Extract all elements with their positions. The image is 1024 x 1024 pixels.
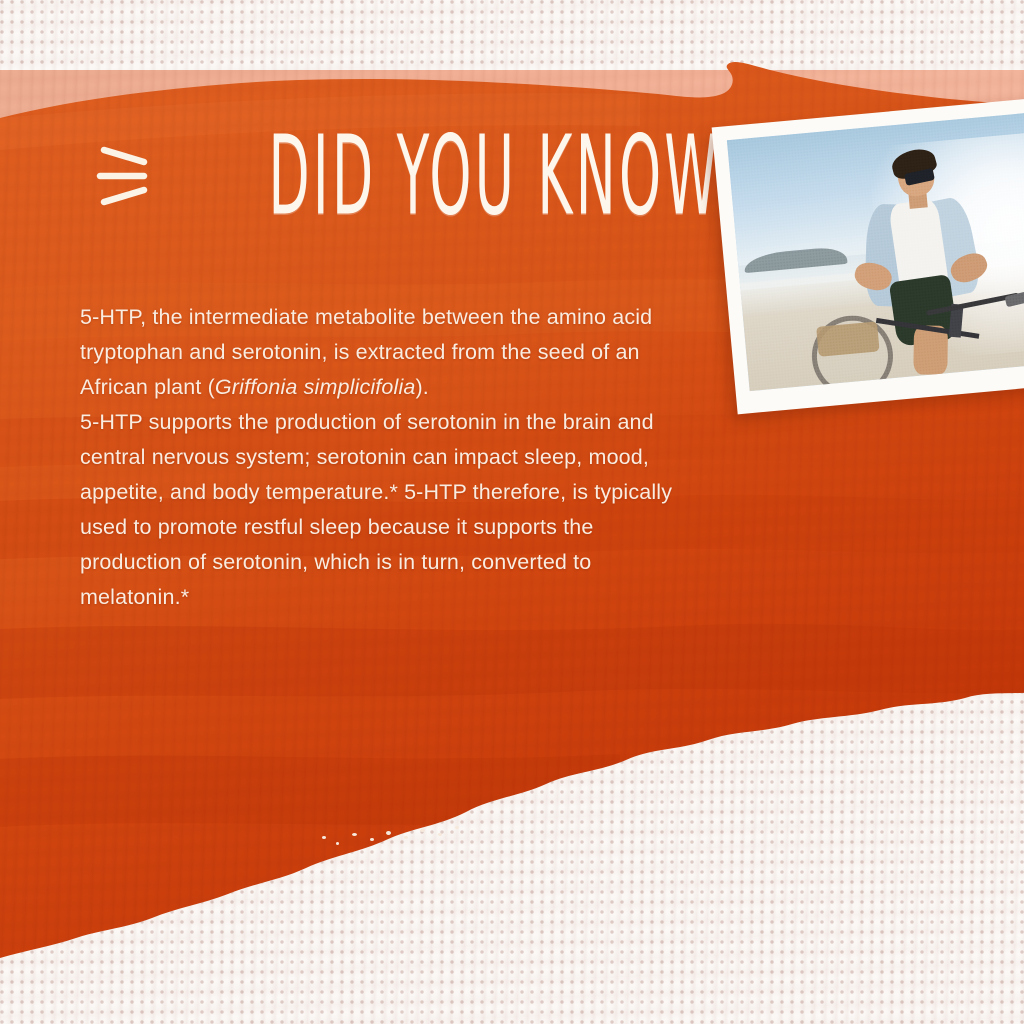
heading-row: DID YOU KNOW bbox=[96, 118, 716, 236]
page-title: DID YOU KNOW bbox=[268, 124, 720, 229]
beach-cyclist-photo bbox=[727, 113, 1024, 391]
paragraph-one: 5-HTP, the intermediate metabolite betwe… bbox=[80, 300, 692, 405]
paragraph-one-tail: ). bbox=[416, 375, 429, 399]
polaroid-photo bbox=[712, 98, 1024, 415]
body-copy: 5-HTP, the intermediate metabolite betwe… bbox=[80, 300, 692, 615]
species-name: Griffonia simplicifolia bbox=[215, 375, 416, 399]
sparkle-burst-left-icon bbox=[96, 140, 152, 214]
infographic-panel: DID YOU KNOW 5-HTP, the intermediate met… bbox=[0, 0, 1024, 1024]
photo-grain bbox=[727, 113, 1024, 391]
paragraph-two: 5-HTP supports the production of seroton… bbox=[80, 405, 692, 615]
